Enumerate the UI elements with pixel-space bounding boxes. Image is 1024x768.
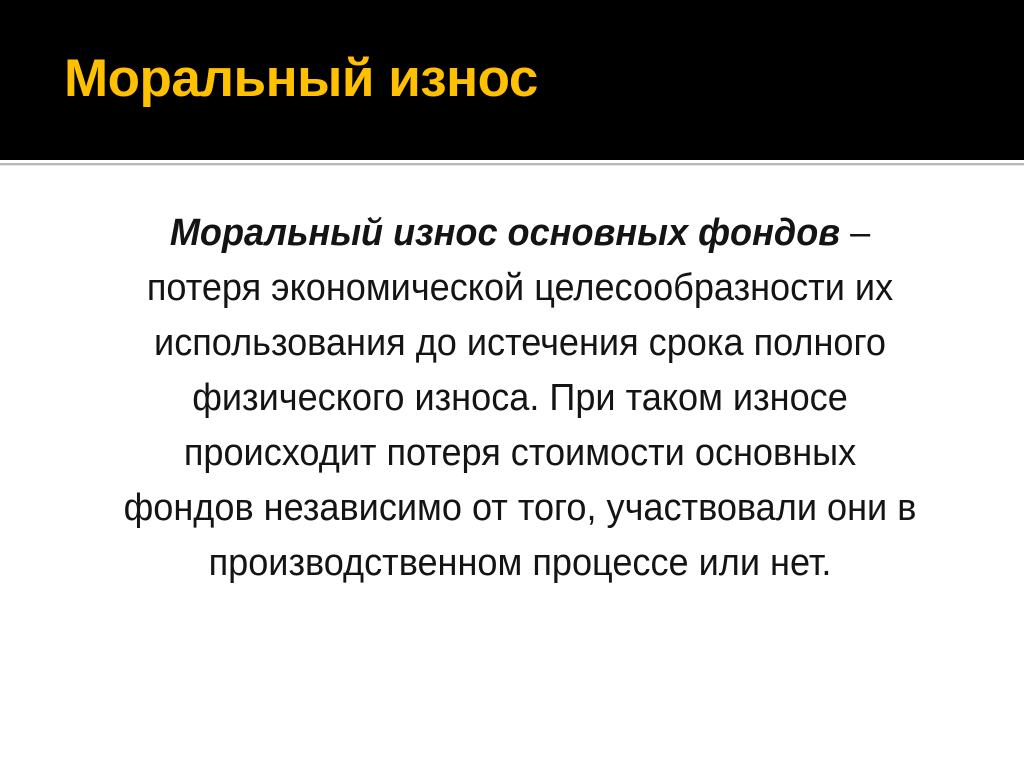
definition-description: потеря экономической целесообразности их… — [124, 267, 917, 584]
definition-separator: – — [840, 212, 870, 254]
presentation-slide: Моральный износ Моральный износ основных… — [0, 0, 1024, 768]
slide-body-text: Моральный износ основных фондов – потеря… — [117, 206, 923, 591]
slide-title: Моральный износ — [64, 48, 538, 110]
definition-term: Моральный износ основных фондов — [170, 212, 840, 254]
slide-header-band: Моральный износ — [0, 0, 1024, 160]
header-divider — [0, 162, 1024, 166]
